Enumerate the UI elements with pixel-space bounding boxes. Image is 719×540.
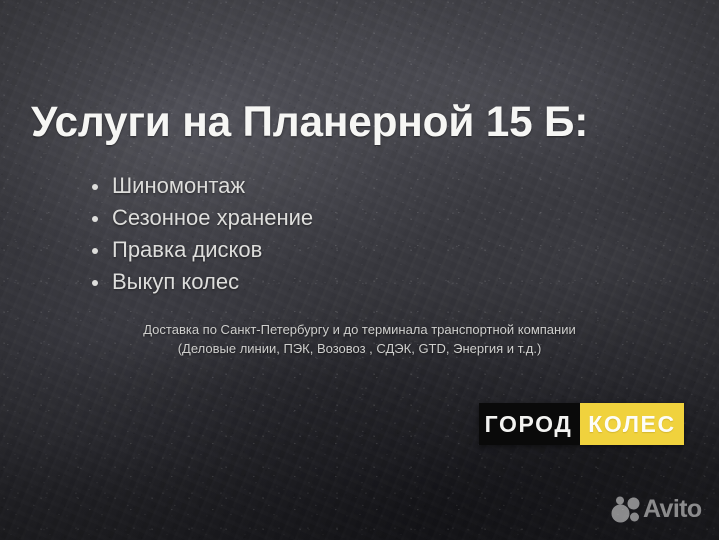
slide-content: Услуги на Планерной 15 Б: Шиномонтаж Сез… <box>0 0 719 540</box>
avito-dots-icon <box>611 496 640 523</box>
promo-slide: Услуги на Планерной 15 Б: Шиномонтаж Сез… <box>0 0 719 540</box>
avito-watermark: Avito <box>611 496 702 523</box>
service-label: Правка дисков <box>112 237 262 262</box>
list-item: Сезонное хранение <box>88 202 313 234</box>
delivery-note-line1: Доставка по Санкт-Петербургу и до термин… <box>143 322 576 337</box>
company-logo: ГОРОД КОЛЕС <box>479 403 684 445</box>
bullet-dot-icon <box>92 184 98 190</box>
services-list: Шиномонтаж Сезонное хранение Правка диск… <box>88 170 313 298</box>
bullet-dot-icon <box>92 216 98 222</box>
slide-title: Услуги на Планерной 15 Б: <box>31 98 681 146</box>
delivery-note-line2: (Деловые линии, ПЭК, Возовоз , СДЭК, GTD… <box>0 339 719 358</box>
service-label: Сезонное хранение <box>112 205 313 230</box>
list-item: Выкуп колес <box>88 266 313 298</box>
bullet-dot-icon <box>92 248 98 254</box>
bullet-dot-icon <box>92 280 98 286</box>
service-label: Шиномонтаж <box>112 173 245 198</box>
list-item: Правка дисков <box>88 234 313 266</box>
service-label: Выкуп колес <box>112 269 239 294</box>
delivery-note: Доставка по Санкт-Петербургу и до термин… <box>0 320 719 358</box>
avito-watermark-text: Avito <box>643 497 702 522</box>
list-item: Шиномонтаж <box>88 170 313 202</box>
logo-word-koles: КОЛЕС <box>580 403 684 445</box>
logo-word-gorod: ГОРОД <box>479 403 580 445</box>
